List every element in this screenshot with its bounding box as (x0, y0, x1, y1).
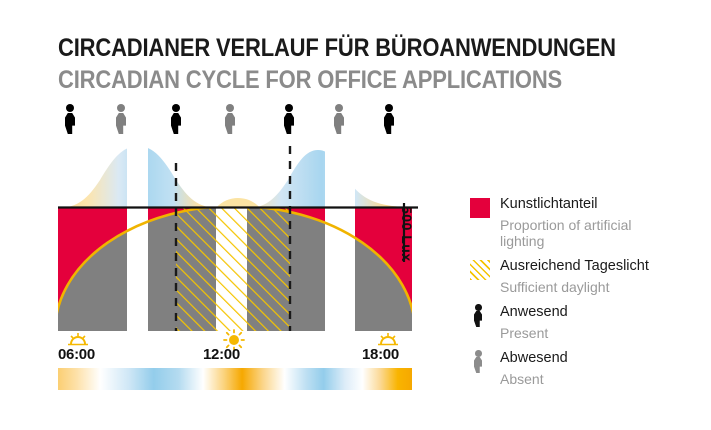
figure-head (66, 104, 74, 112)
legend-label: Abwesend (500, 350, 700, 367)
legend-sublabel: Proportion of artificial lighting (500, 217, 700, 249)
figure-body (474, 357, 482, 373)
sunset-icon (378, 333, 398, 345)
figure-body (65, 113, 75, 134)
legend-label: Ausreichend Tageslicht (500, 258, 700, 275)
circadian-chart: 06:0012:0018:00 500 Lux (0, 0, 460, 430)
figure-head (226, 104, 234, 112)
legend-label: Anwesend (500, 304, 700, 321)
legend-item: AnwesendPresent (470, 304, 700, 341)
figure-body (384, 113, 394, 134)
figure-body (284, 113, 294, 134)
figure-body (334, 113, 344, 134)
figure-head (285, 104, 293, 112)
person-present-icon (472, 304, 485, 327)
person-present-icon (381, 104, 397, 134)
time-tick-label: 12:00 (203, 346, 240, 363)
legend: KunstlichtanteilProportion of artificial… (470, 196, 700, 396)
person-absent-icon (222, 104, 238, 134)
person-absent-icon (472, 350, 485, 373)
daylight-core-hatch (216, 207, 247, 331)
legend-sublabel: Absent (500, 371, 700, 387)
light-scene-curves (58, 140, 412, 210)
figure-body (225, 113, 235, 134)
absence-gap-2 (325, 140, 355, 210)
person-absent-icon (113, 104, 129, 134)
infographic-root: CIRCADIANER VERLAUF FÜR BÜROANWENDUNGEN … (0, 0, 711, 430)
legend-label: Kunstlichtanteil (500, 196, 700, 213)
legend-item: Ausreichend TageslichtSufficient dayligh… (470, 258, 700, 295)
colour-temperature-bar (58, 368, 412, 390)
figure-body (116, 113, 126, 134)
person-present-icon (62, 104, 78, 134)
absence-gap-1 (127, 140, 148, 210)
red-square-swatch (470, 198, 490, 218)
figure-head (172, 104, 180, 112)
person-absent-icon (331, 104, 347, 134)
time-tick-label: 18:00 (362, 346, 399, 363)
plot-body (55, 206, 415, 430)
legend-sublabel: Sufficient daylight (500, 279, 700, 295)
person-present-icon (168, 104, 184, 134)
figure-head (117, 104, 125, 112)
figure-head (385, 104, 393, 112)
legend-item: AbwesendAbsent (470, 350, 700, 387)
person-present-icon (281, 104, 297, 134)
yellow-hatch-swatch (470, 260, 490, 280)
figure-head (475, 350, 482, 357)
time-tick-label: 06:00 (58, 346, 95, 363)
figure-head (335, 104, 343, 112)
legend-sublabel: Present (500, 325, 700, 341)
figure-body (171, 113, 181, 134)
figure-body (474, 311, 482, 327)
sunrise-icon (68, 333, 88, 345)
chart-svg (0, 0, 460, 430)
legend-item: KunstlichtanteilProportion of artificial… (470, 196, 700, 249)
figure-head (475, 304, 482, 311)
lux-axis-label: 500 Lux (399, 206, 415, 262)
